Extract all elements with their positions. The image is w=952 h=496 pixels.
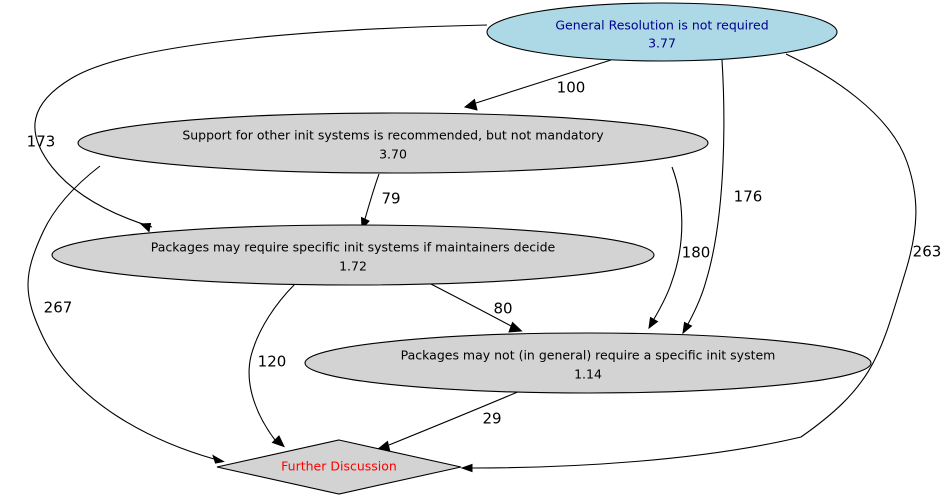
arrowhead-icon xyxy=(465,100,477,111)
edge-path xyxy=(688,60,724,324)
node-ellipse xyxy=(52,225,654,285)
edge-label-173: 173 xyxy=(27,133,56,151)
edge-gr-to-may-not-require[interactable]: 176 xyxy=(683,60,762,333)
node-value: 3.77 xyxy=(648,36,676,51)
node-packages-may-require-specific[interactable]: Packages may require specific init syste… xyxy=(52,225,654,285)
node-title: Further Discussion xyxy=(281,459,397,474)
node-title: Packages may require specific init syste… xyxy=(151,240,556,255)
node-value: 1.72 xyxy=(339,259,367,274)
node-support-other-init-systems[interactable]: Support for other init systems is recomm… xyxy=(78,113,708,173)
arrowhead-icon xyxy=(141,224,151,232)
node-ellipse xyxy=(305,333,871,393)
edge-label-120: 120 xyxy=(258,353,287,371)
node-general-resolution-not-required[interactable]: General Resolution is not required 3.77 xyxy=(487,3,837,61)
edge-label-267: 267 xyxy=(44,299,73,317)
edge-may-require-to-further-discussion[interactable]: 120 xyxy=(249,284,295,447)
node-value: 3.70 xyxy=(379,147,407,162)
node-value: 1.14 xyxy=(574,367,602,382)
edge-label-29: 29 xyxy=(482,410,501,428)
edge-label-100: 100 xyxy=(557,79,586,97)
edge-support-to-further-discussion[interactable]: 267 xyxy=(28,166,224,463)
arrowhead-icon xyxy=(509,323,522,333)
node-packages-may-not-require[interactable]: Packages may not (in general) require a … xyxy=(305,333,871,393)
edge-label-80: 80 xyxy=(493,300,512,318)
edge-label-263: 263 xyxy=(913,243,942,261)
nodes-layer: General Resolution is not required 3.77 … xyxy=(52,3,871,494)
edge-label-180: 180 xyxy=(682,244,711,262)
graph-canvas: 100 173 176 263 xyxy=(0,0,952,496)
node-title: Packages may not (in general) require a … xyxy=(401,348,776,363)
arrowhead-icon xyxy=(683,323,692,334)
node-further-discussion[interactable]: Further Discussion xyxy=(217,440,461,494)
arrowhead-icon xyxy=(273,436,285,447)
node-title: Support for other init systems is recomm… xyxy=(182,128,604,143)
edge-support-to-may-not-require[interactable]: 180 xyxy=(649,167,710,328)
edge-label-176: 176 xyxy=(734,188,763,206)
edge-gr-to-support[interactable]: 100 xyxy=(465,60,611,110)
edge-label-79: 79 xyxy=(381,190,400,208)
edge-path xyxy=(476,60,611,103)
arrowhead-icon xyxy=(649,318,658,329)
edge-path xyxy=(654,167,682,319)
vote-graph: 100 173 176 263 xyxy=(0,0,952,496)
arrowhead-icon xyxy=(462,465,472,472)
edge-may-require-to-may-not-require[interactable]: 80 xyxy=(429,283,522,332)
arrowhead-icon xyxy=(213,456,224,464)
edge-path xyxy=(365,174,379,219)
edge-may-not-require-to-further-discussion[interactable]: 29 xyxy=(378,391,520,452)
node-title: General Resolution is not required xyxy=(555,18,768,33)
edge-support-to-may-require[interactable]: 79 xyxy=(362,174,401,229)
node-ellipse xyxy=(78,113,708,173)
